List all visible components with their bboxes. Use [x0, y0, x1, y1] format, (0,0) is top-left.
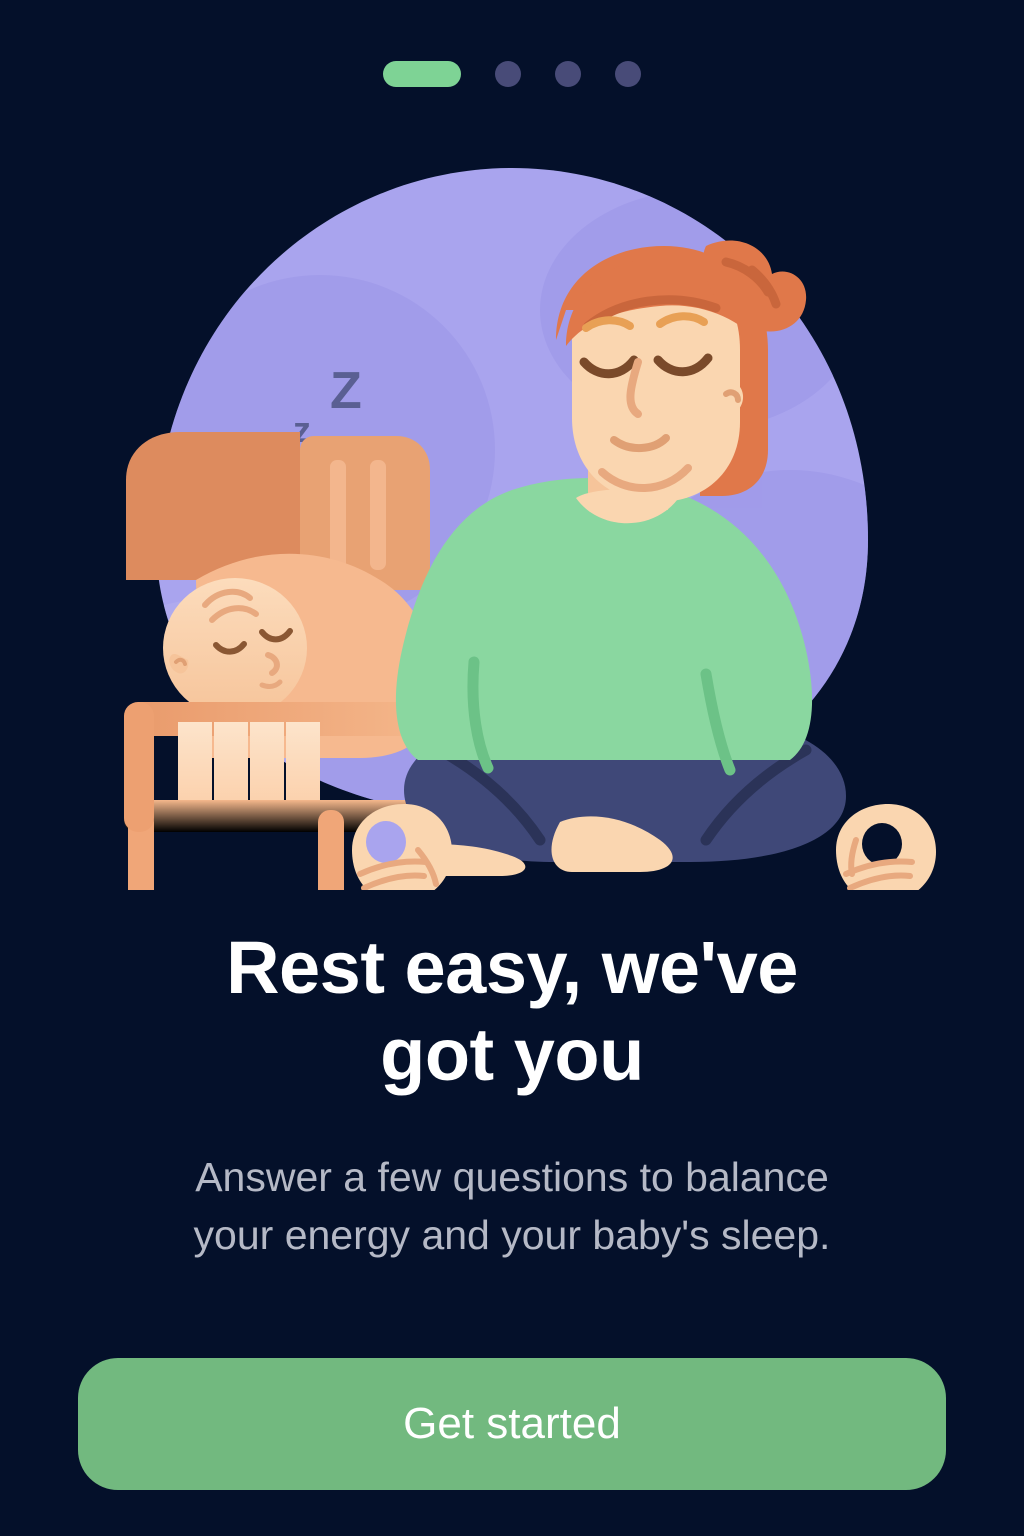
onboarding-illustration: Z z: [0, 150, 1024, 890]
get-started-button[interactable]: Get started: [78, 1358, 946, 1490]
page-title: Rest easy, we've got you: [0, 925, 1024, 1098]
page-subtitle: Answer a few questions to balance your e…: [0, 1148, 1024, 1264]
baby-head: [163, 578, 307, 718]
pagination-dot-3[interactable]: [555, 61, 581, 87]
pagination-dot-2[interactable]: [495, 61, 521, 87]
pagination-dot-4[interactable]: [615, 61, 641, 87]
sleep-z-large-icon: Z: [330, 362, 362, 420]
page-title-line-1: Rest easy, we've: [0, 925, 1024, 1012]
page-title-line-2: got you: [0, 1012, 1024, 1099]
pagination-dot-1-active[interactable]: [383, 61, 461, 87]
page-subtitle-line-2: your energy and your baby's sleep.: [0, 1206, 1024, 1264]
right-hand-mudra: [836, 804, 936, 890]
page-subtitle-line-1: Answer a few questions to balance: [0, 1148, 1024, 1206]
pagination-dots: [0, 61, 1024, 87]
